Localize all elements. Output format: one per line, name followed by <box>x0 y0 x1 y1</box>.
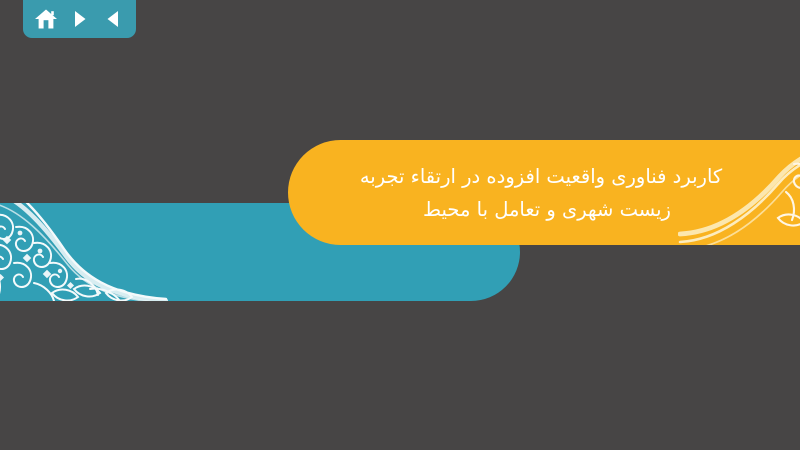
triangle-left-icon <box>102 8 124 30</box>
navigation-bar <box>23 0 136 38</box>
slide-canvas: کاربرد فناوری واقعیت افزوده در ارتقاء تج… <box>0 0 800 450</box>
triangle-right-icon <box>69 8 91 30</box>
back-button[interactable] <box>100 7 126 31</box>
home-button[interactable] <box>33 7 59 31</box>
home-icon <box>34 8 58 31</box>
forward-button[interactable] <box>67 7 93 31</box>
arabesque-ornament <box>0 203 168 301</box>
arabesque-ornament <box>678 140 800 245</box>
orange-banner <box>288 140 800 245</box>
